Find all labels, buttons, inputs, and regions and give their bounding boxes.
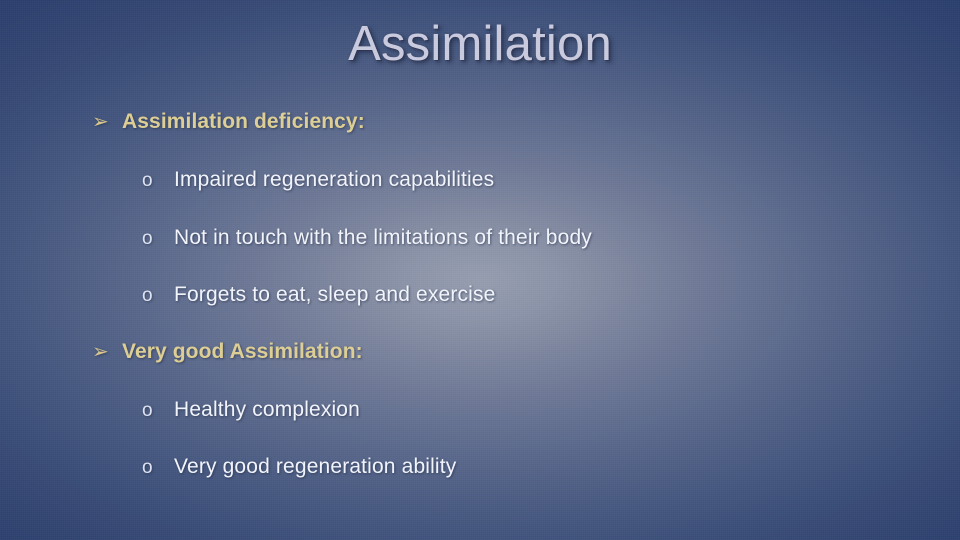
arrow-bullet-icon: ➢ xyxy=(92,112,122,132)
bullet-text: Very good Assimilation: xyxy=(122,340,363,364)
bullet-item-level1: ➢Very good Assimilation: xyxy=(92,340,363,364)
bullet-item-level2: oImpaired regeneration capabilities xyxy=(142,168,494,192)
circle-bullet-icon: o xyxy=(142,286,174,305)
circle-bullet-icon: o xyxy=(142,229,174,248)
circle-bullet-icon: o xyxy=(142,171,174,190)
bullet-item-level2: oVery good regeneration ability xyxy=(142,455,456,479)
bullet-text: Very good regeneration ability xyxy=(174,455,456,479)
circle-bullet-icon: o xyxy=(142,458,174,477)
circle-bullet-icon: o xyxy=(142,401,174,420)
bullet-text: Impaired regeneration capabilities xyxy=(174,168,494,192)
bullet-item-level1: ➢Assimilation deficiency: xyxy=(92,110,365,134)
bullet-text: Not in touch with the limitations of the… xyxy=(174,226,592,250)
bullet-item-level2: oForgets to eat, sleep and exercise xyxy=(142,283,495,307)
bullet-text: Assimilation deficiency: xyxy=(122,110,365,134)
bullet-item-level2: oNot in touch with the limitations of th… xyxy=(142,226,592,250)
arrow-bullet-icon: ➢ xyxy=(92,342,122,362)
bullet-text: Forgets to eat, sleep and exercise xyxy=(174,283,495,307)
slide-body-content: ➢Assimilation deficiency:oImpaired regen… xyxy=(0,0,960,540)
bullet-item-level2: oHealthy complexion xyxy=(142,398,360,422)
presentation-slide: Assimilation ➢Assimilation deficiency:oI… xyxy=(0,0,960,540)
bullet-text: Healthy complexion xyxy=(174,398,360,422)
